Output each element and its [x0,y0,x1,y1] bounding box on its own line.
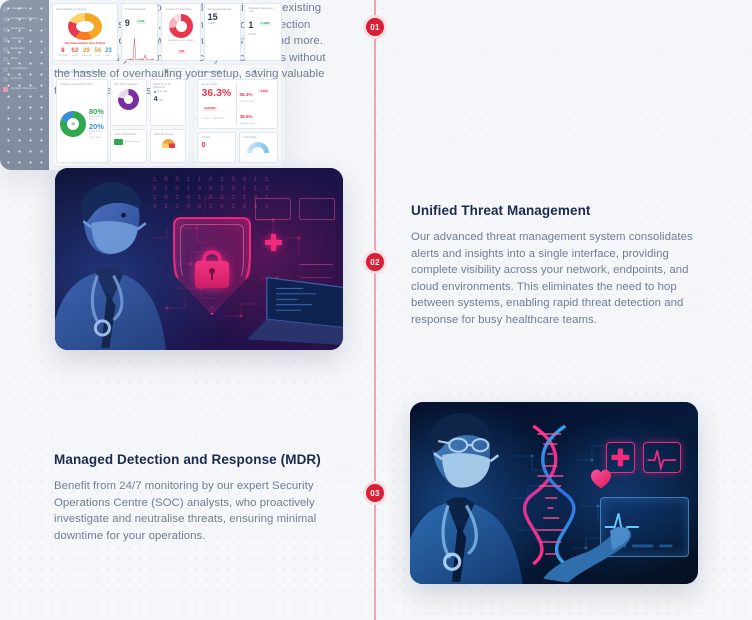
total-alerts-card[interactable]: Total Alerts [239,132,278,163]
card-title: Managed Users Last Year [248,7,275,13]
managed-users-value-row: 1 +7.98% [248,15,278,33]
severity-value: 29 [82,48,91,54]
card-title: Threats Detected [125,8,146,11]
card-header: Incidents Closed By Priority ⋮ [60,83,104,87]
total-alerts-gauge-chart [247,142,269,153]
padlock-body [195,261,229,288]
severity-value: 23 [105,48,112,54]
initial-score-value: 38.5% [239,114,252,119]
card-header: Managed Users Last Year ⋮ [248,7,278,13]
secure-score-badge: ACTIONS [203,107,217,111]
section-02-body: Our advanced threat management system co… [411,229,699,329]
section-02-title: Unified Threat Management [411,203,699,218]
legend-dot-icon [154,91,156,93]
alerts-by-source-card[interactable]: Alerts By Source ⋮ [150,129,187,163]
more-options-icon[interactable]: ⋮ [235,7,238,11]
section-03-body: Benefit from 24/7 monitoring by our expe… [54,478,346,544]
dashboard-kpi-strip: Vulnerabilities by Severity ⋮ 1481 Vulne… [52,3,282,61]
severity-medium: 29 MEDIUM [82,48,91,57]
severity-label: LOW [94,55,101,57]
initial-score-row: 38.5% INITIAL SCORE [239,105,274,125]
alert-classification-card[interactable]: Alert Classification ⋮ False Positives [110,129,147,163]
card-title: Alert Classification [114,133,136,136]
card-title: Vulnerabilities by Severity [56,8,87,11]
threats-sparkline-chart [125,35,155,61]
legend-label: SLA • TIME [157,91,168,93]
card-title: Secure Score [201,83,217,86]
severity-low: 56 LOW [94,48,101,57]
doctor-shield-padlock-illustration[interactable]: 1 0 0 1 1 0 1 0 0 1 1 0 1 0 1 0 0 1 0 1 … [55,168,343,350]
vulnerability-subtitle: 1481 Vulnerabilities Over 30 Days [56,42,114,45]
stat-value-escalated: 20% [89,123,104,131]
severity-value: 62 [71,48,78,54]
more-options-icon[interactable]: ⋮ [180,84,183,88]
card-title: Mean Time To Respond [154,83,180,89]
card-title: Total Alerts [243,136,256,139]
pointing-hand-graphic [542,508,640,584]
card-title: Average Threat Score [165,8,191,11]
incidents-donut-chart: 10 [60,111,86,137]
laptop-graphic [242,272,343,345]
more-options-icon[interactable]: ⋮ [111,7,114,11]
more-options-icon[interactable]: ⋮ [140,83,143,87]
incidents-closed-by-priority-card[interactable]: Incidents Closed By Priority ⋮ 10 80% RE… [56,79,108,164]
doctor-with-mask-figure [55,179,170,350]
card-label: False Positives [125,141,139,143]
timeline-marker-03: 03 [363,481,387,505]
severity-breakdown-row: 8 CRITICAL 62 HIGH 29 MEDIUM 56 LOW [56,48,114,57]
threats-detected-card[interactable]: Threats Detected ⋮ 9 +7.1% [121,3,159,61]
card-header: Secure Score [201,83,236,86]
ui-mock-panel [299,198,335,220]
threats-card[interactable]: Threats 0 [197,132,236,163]
card-header: Threats [201,136,232,139]
more-options-icon[interactable]: ⋮ [180,133,183,137]
padlock-keyhole [209,268,215,274]
prior-score-value: 36.3% [239,92,252,97]
severity-label: MEDIUM [82,55,91,57]
card-title: Incidents Closed By Priority [60,83,93,86]
donut-center-value: 10 [60,111,86,137]
timeline-marker-label: 01 [370,23,380,32]
secure-score-value: 36.3% [201,88,236,99]
severity-label: CRITICAL [58,55,68,57]
security-operations-centre-panel: Security Operations Centre View Reports … [52,64,190,167]
average-threat-score-card[interactable]: Average Threat Score ⋮ AVERAGE LAST 30 D… [161,3,200,61]
false-positive-bar [114,139,123,145]
kpi-badge: +7.1% [136,20,146,24]
kpi-value: 1 [248,20,253,30]
severity-critical: 8 CRITICAL [58,48,68,57]
padlock-icon [195,250,229,288]
secure-score-card[interactable]: Secure Score 36.3% ACTIONS LOWEST IT HAS… [197,79,278,130]
dashboard-main-area: Vulnerabilities by Severity ⋮ 1481 Vulne… [49,0,285,170]
severity-high: 62 HIGH [71,48,78,57]
severity-value: 56 [94,48,101,54]
ecg-icon-box [643,442,680,473]
card-title: Threats [201,136,210,139]
kpi-value: 15 [208,13,238,22]
dashboard-panel-row: Security Operations Centre View Reports … [52,64,282,167]
more-options-icon[interactable]: ⋮ [140,133,143,137]
threat-sources-donut-chart [118,89,139,110]
card-caption: USERS [248,34,278,36]
section-03-text: Managed Detection and Response (MDR) Ben… [54,452,346,544]
doctor-with-glasses-figure [410,411,534,584]
card-header: Vulnerabilities by Severity ⋮ [56,7,114,11]
card-caption: USERS [208,23,238,25]
mean-time-to-respond-card[interactable]: Mean Time To Respond ⋮ SLA • TIME 4/ 2h [150,79,187,127]
severity-info: 23 INFO [105,48,112,57]
more-options-icon[interactable]: ⋮ [152,7,155,11]
card-header: Average Threat Score ⋮ [165,7,196,11]
prior-score-row: 36.3% -0.09% PRIOR SCORE [239,83,274,103]
card-header: Threats Detected ⋮ [125,7,155,11]
secure-score-caption: LOWEST IT HAS BEEN [201,118,236,120]
stat-caption-escalated: ESCALATED TO CUSTOMER [89,131,104,139]
card-caption: AVERAGE LAST 30 DAYS [165,40,196,42]
more-options-icon[interactable]: ⋮ [194,7,197,11]
threat-score-donut-chart [169,14,193,38]
managed-users-card[interactable]: Managed Users Last Year ⋮ 1 +7.98% USERS [244,3,282,61]
alerts-by-source-pie-chart [162,139,175,148]
managed-endpoints-card[interactable]: Managed Endpoints ⋮ 15 USERS [204,3,242,61]
sla-value: 4/ 2h [154,96,183,103]
heart-icon [589,468,613,490]
more-options-icon[interactable]: ⋮ [275,8,278,12]
vulnerabilities-by-severity-card[interactable]: Vulnerabilities by Severity ⋮ 1481 Vulne… [52,3,118,61]
top-threat-sources-card[interactable]: Top Threat Sources ⋮ [110,79,147,127]
section-03-title: Managed Detection and Response (MDR) [54,452,346,467]
card-title: Managed Endpoints [208,8,232,11]
prior-score-badge: -0.09% [258,89,269,93]
severity-value: 8 [58,48,68,54]
card-header: Top Threat Sources ⋮ [114,83,143,87]
card-header: Alert Classification ⋮ [114,133,143,137]
threats-value: 0 [201,141,232,149]
card-header: Mean Time To Respond ⋮ [154,83,183,89]
kpi-badge: +7.98% [259,22,270,26]
card-title: Top Threat Sources [114,83,137,86]
stat-caption-resolved: RESOLVED BY SOC [89,116,104,122]
prior-score-label: PRIOR SCORE [239,101,274,103]
card-header: Managed Endpoints ⋮ [208,7,238,11]
soc-card-grid: Incidents Closed By Priority ⋮ 10 80% RE… [56,79,186,164]
ui-mock-panel [255,198,291,220]
severity-label: HIGH [71,55,78,57]
timeline-marker-label: 03 [370,489,380,498]
timeline-marker-01: 01 [363,15,387,39]
neon-shield-graphic [173,217,251,315]
kpi-value: 9 [125,18,130,28]
doctor-dna-heart-monitor-illustration[interactable] [410,402,698,584]
timeline-marker-label: 02 [370,258,380,267]
threats-detected-value-row: 9 +7.1% [125,13,155,31]
sla-legend: SLA • TIME [154,91,183,93]
timeline-vertical-line [374,0,376,620]
timeline-marker-02: 02 [363,250,387,274]
vulnerability-donut-chart [68,13,102,40]
stat-value-resolved: 80% [89,108,104,116]
secure-score-comparison: 36.3% -0.09% PRIOR SCORE 38.5% INITIAL S… [236,83,274,126]
medical-cross-icon [265,234,282,251]
initial-score-label: INITIAL SCORE [239,123,274,125]
incident-stats: 80% RESOLVED BY SOC 20% ESCALATED TO CUS… [89,108,104,140]
section-02-text: Unified Threat Management Our advanced t… [411,203,699,329]
card-header: Alerts By Source ⋮ [154,133,183,137]
card-header: Total Alerts [243,136,274,139]
kpi-badge: 51% [178,50,186,54]
card-title: Alerts By Source [154,133,174,136]
more-options-icon[interactable]: ⋮ [101,83,104,87]
severity-label: INFO [105,55,112,57]
